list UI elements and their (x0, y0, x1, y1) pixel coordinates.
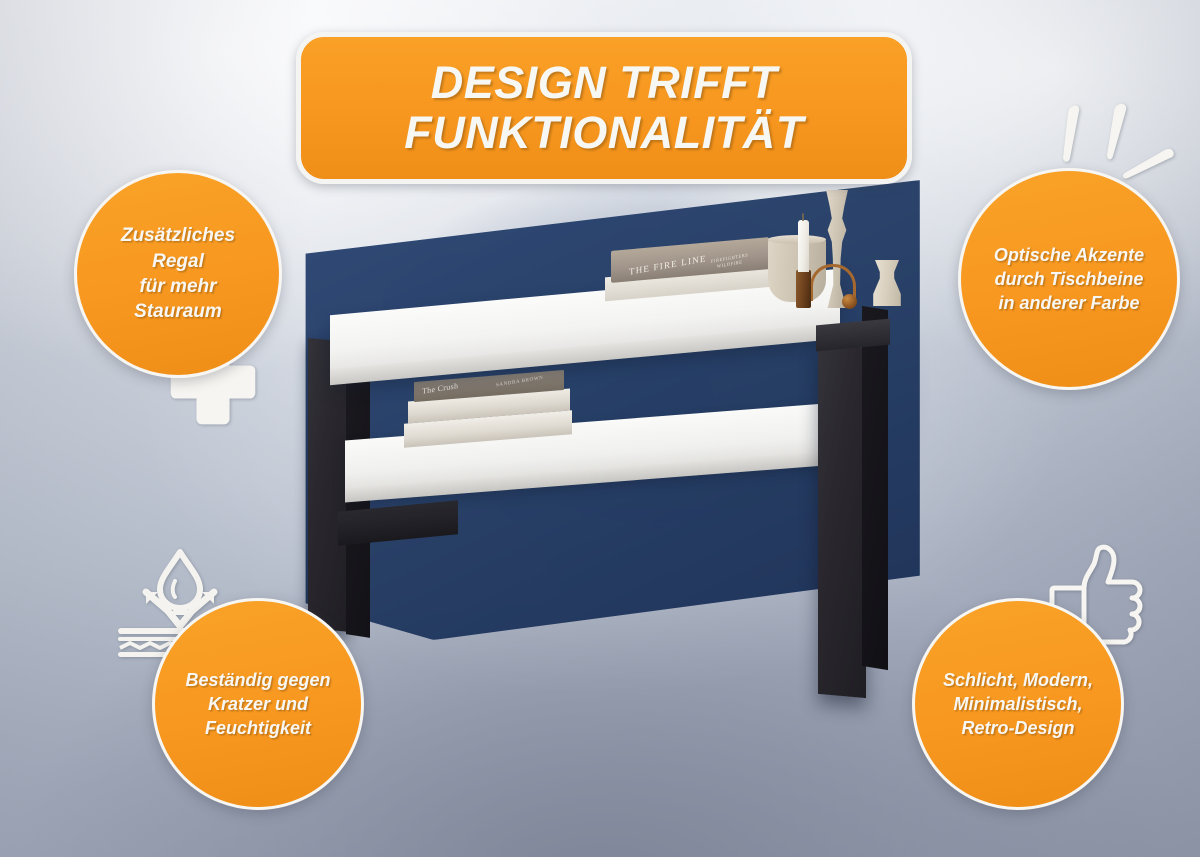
shelf-book-title: The Crush (422, 381, 458, 396)
product-photo: The Crush SANDRA BROWN THE FIRE LINE FIR… (250, 150, 950, 710)
headline-line-2: FUNKTIONALITÄT (404, 108, 803, 158)
tabletop-book-title: THE FIRE LINE (629, 253, 707, 277)
ceramic-pot-rim (768, 235, 826, 244)
headline-line-1: DESIGN TRIFFT (404, 58, 803, 108)
badge-legs: Optische Akzentedurch Tischbeinein ander… (958, 168, 1180, 390)
shelf-book-stack: The Crush SANDRA BROWN (408, 376, 580, 460)
table-leg-right-inner-face (862, 306, 888, 670)
candle-wick (802, 213, 804, 221)
headline-text: DESIGN TRIFFT FUNKTIONALITÄT (390, 58, 817, 159)
product-marketing-image: The Crush SANDRA BROWN THE FIRE LINE FIR… (0, 0, 1200, 857)
headline-banner: DESIGN TRIFFT FUNKTIONALITÄT (296, 32, 912, 184)
candle-holder (796, 270, 811, 308)
badge-shelf-label: ZusätzlichesRegalfür mehrStauraum (111, 223, 245, 325)
badge-resistant-label: Beständig gegenKratzer undFeuchtigkeit (175, 668, 340, 740)
brass-candle-snuffer-ball (842, 294, 857, 309)
white-candle (798, 220, 809, 272)
small-vase (872, 260, 902, 306)
badge-design: Schlicht, Modern,Minimalistisch,Retro-De… (912, 598, 1124, 810)
tabletop-book-subtitle: FIREFIGHTERSWILDFIRE (711, 252, 748, 271)
badge-shelf: ZusätzlichesRegalfür mehrStauraum (74, 170, 282, 378)
shelf-book-author: SANDRA BROWN (496, 376, 543, 389)
badge-resistant: Beständig gegenKratzer undFeuchtigkeit (152, 598, 364, 810)
table-leg-right (818, 344, 866, 698)
tabletop-decor-group (750, 180, 940, 320)
badge-legs-label: Optische Akzentedurch Tischbeinein ander… (984, 243, 1154, 315)
badge-design-label: Schlicht, Modern,Minimalistisch,Retro-De… (933, 668, 1103, 740)
